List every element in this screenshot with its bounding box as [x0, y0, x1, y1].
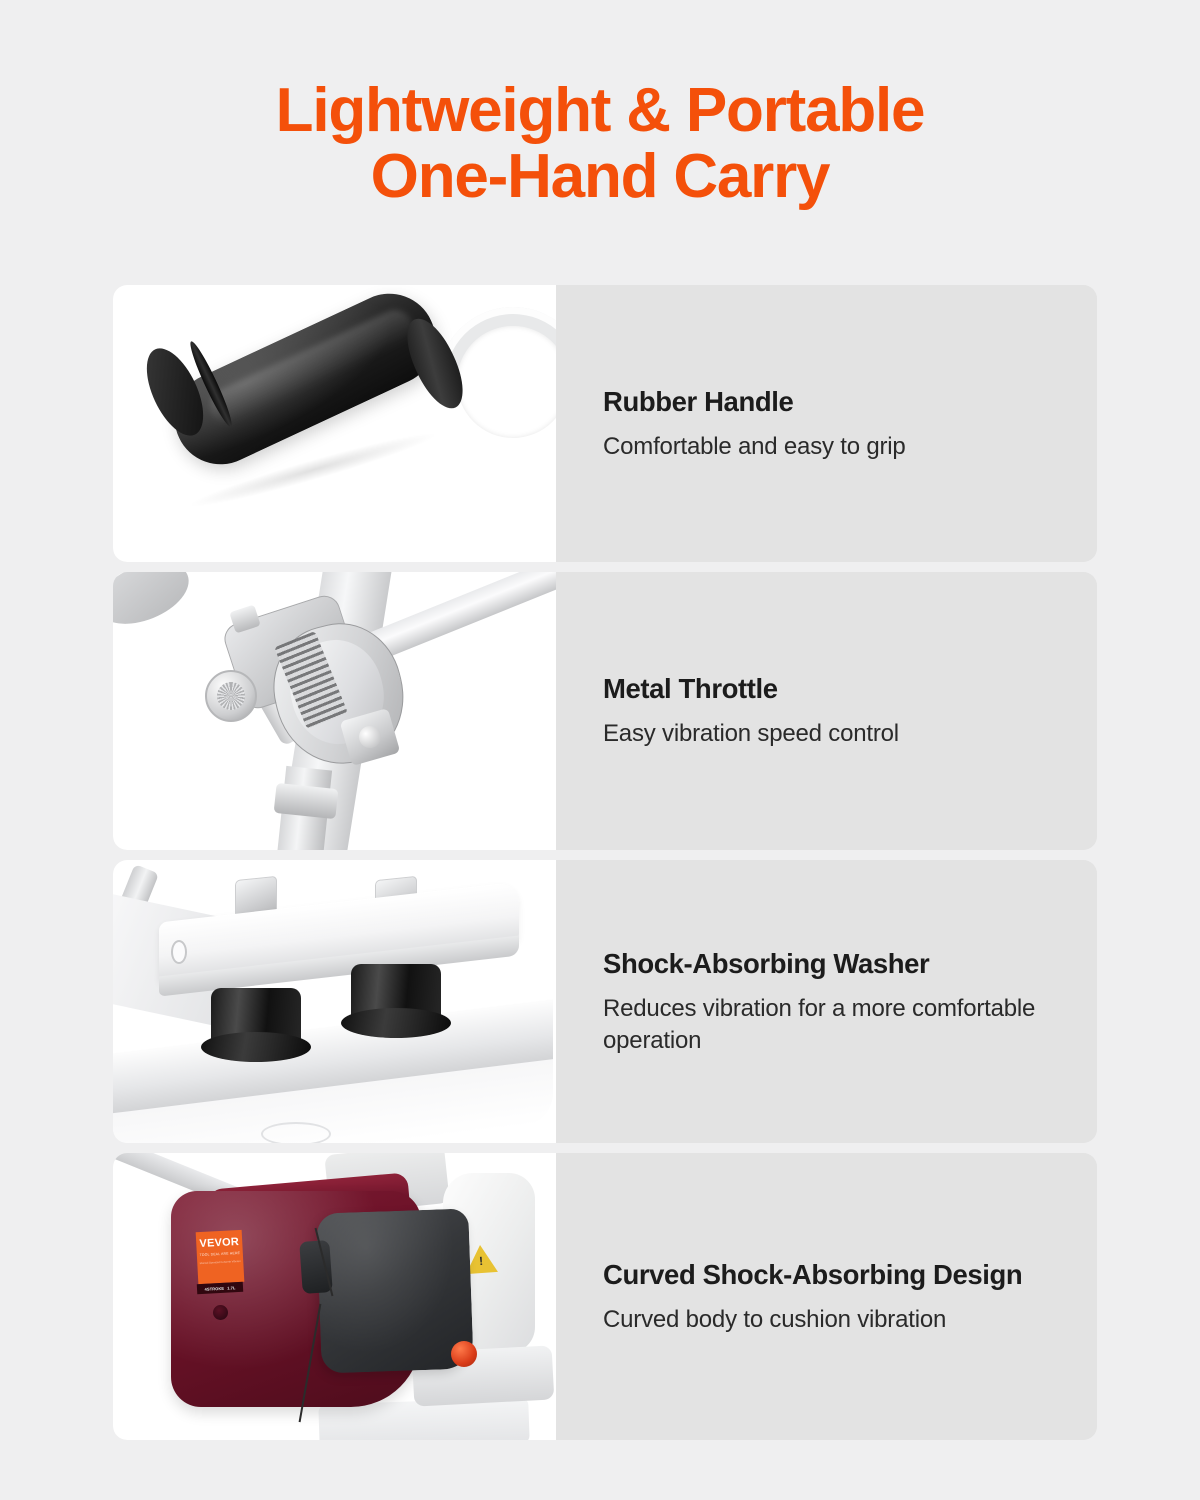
feature-text-metal-throttle: Metal Throttle Easy vibration speed cont… — [556, 572, 1097, 850]
page-title: Lightweight & Portable One-Hand Carry — [0, 0, 1200, 211]
vevor-tagline: TOOL DEAL ARE HERE — [200, 1251, 241, 1257]
feature-card-list: Rubber Handle Comfortable and easy to gr… — [113, 285, 1097, 1440]
air-filter-cover — [316, 1208, 473, 1373]
air-filter-latch — [299, 1240, 333, 1294]
base-plate-ring — [261, 1122, 331, 1143]
feature-photo-rubber-handle — [113, 285, 556, 562]
feature-description: Easy vibration speed control — [603, 718, 1053, 750]
vevor-fineprint: Manual Operated Concrete Vibrator — [200, 1260, 241, 1266]
engine-spec-strength: 4STROKE — [204, 1285, 224, 1291]
feature-description: Comfortable and easy to grip — [603, 431, 1053, 463]
feature-card-rubber-handle: Rubber Handle Comfortable and easy to gr… — [113, 285, 1097, 562]
washer-base-flange — [341, 1008, 451, 1038]
feature-text-curved-shock-absorbing-design: Curved Shock-Absorbing Design Curved bod… — [556, 1153, 1097, 1440]
feature-title: Shock-Absorbing Washer — [603, 947, 1053, 981]
page-title-line-2: One-Hand Carry — [0, 144, 1200, 210]
plate-through-hole — [171, 940, 187, 964]
feature-card-curved-shock-absorbing-design: VEVOR TOOL DEAL ARE HERE Manual Operated… — [113, 1153, 1097, 1440]
feature-photo-metal-throttle — [113, 572, 556, 850]
feature-title: Metal Throttle — [603, 672, 1053, 706]
feature-description: Reduces vibration for a more comfortable… — [603, 993, 1053, 1057]
feature-text-rubber-handle: Rubber Handle Comfortable and easy to gr… — [556, 285, 1097, 562]
page-title-line-1: Lightweight & Portable — [0, 78, 1200, 144]
engine-spec-volume: 1.7L — [227, 1285, 236, 1290]
throttle-adjust-knob — [205, 670, 257, 722]
vevor-wordmark: VEVOR — [199, 1237, 239, 1250]
feature-photo-shock-absorbing-washer — [113, 860, 556, 1143]
shock-absorbing-washer-right — [341, 964, 451, 1034]
background-part-blur — [113, 572, 198, 636]
feature-title: Rubber Handle — [603, 385, 1053, 419]
feature-text-shock-absorbing-washer: Shock-Absorbing Washer Reduces vibration… — [556, 860, 1097, 1143]
feature-description: Curved body to cushion vibration — [603, 1304, 1053, 1336]
feature-title: Curved Shock-Absorbing Design — [603, 1258, 1053, 1292]
engine-port — [213, 1305, 228, 1320]
engine-stop-button — [451, 1341, 477, 1367]
feature-card-shock-absorbing-washer: Shock-Absorbing Washer Reduces vibration… — [113, 860, 1097, 1143]
vevor-brand-label: VEVOR TOOL DEAL ARE HERE Manual Operated… — [196, 1230, 245, 1284]
feature-card-metal-throttle: Metal Throttle Easy vibration speed cont… — [113, 572, 1097, 850]
feature-photo-curved-shock-absorbing-design: VEVOR TOOL DEAL ARE HERE Manual Operated… — [113, 1153, 556, 1440]
shock-absorbing-washer-left — [201, 988, 311, 1058]
throttle-stem-nut — [274, 783, 339, 819]
washer-base-flange — [201, 1032, 311, 1062]
